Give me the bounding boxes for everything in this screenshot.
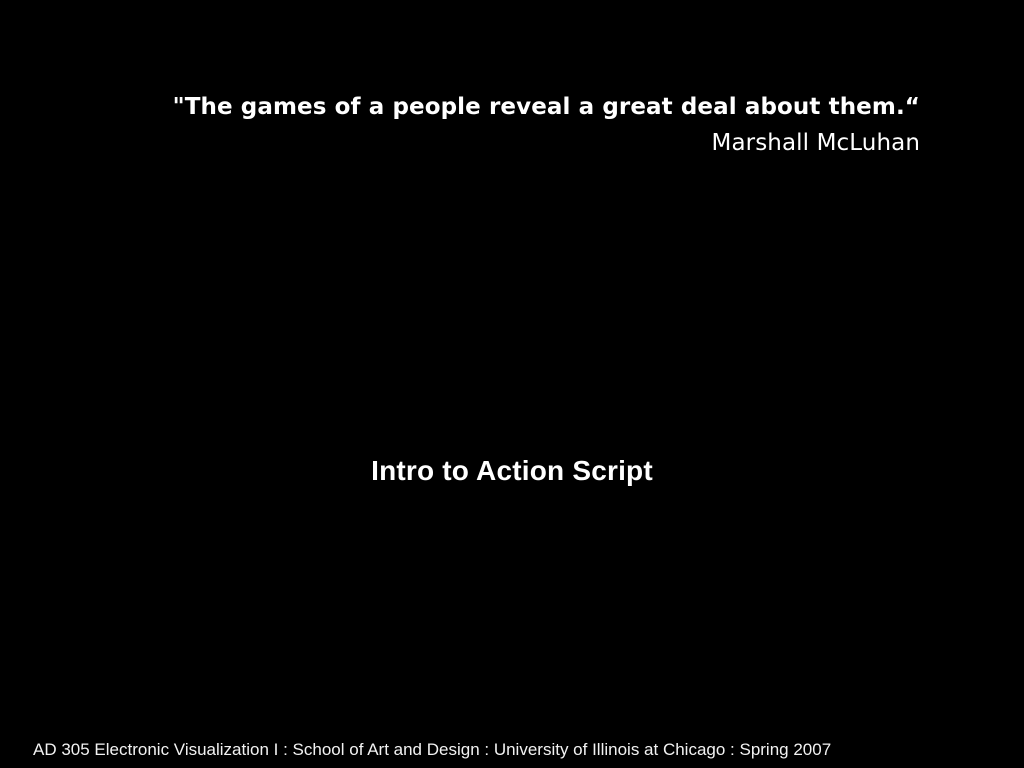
quote-attribution: Marshall McLuhan	[0, 126, 920, 160]
quote-text: "The games of a people reveal a great de…	[0, 90, 920, 124]
title-block: Intro to Action Script	[0, 455, 1024, 487]
page-title: Intro to Action Script	[0, 455, 1024, 487]
quote-block: "The games of a people reveal a great de…	[0, 90, 920, 160]
slide-footer: AD 305 Electronic Visualization I : Scho…	[33, 740, 1013, 760]
presentation-slide: "The games of a people reveal a great de…	[0, 0, 1024, 768]
